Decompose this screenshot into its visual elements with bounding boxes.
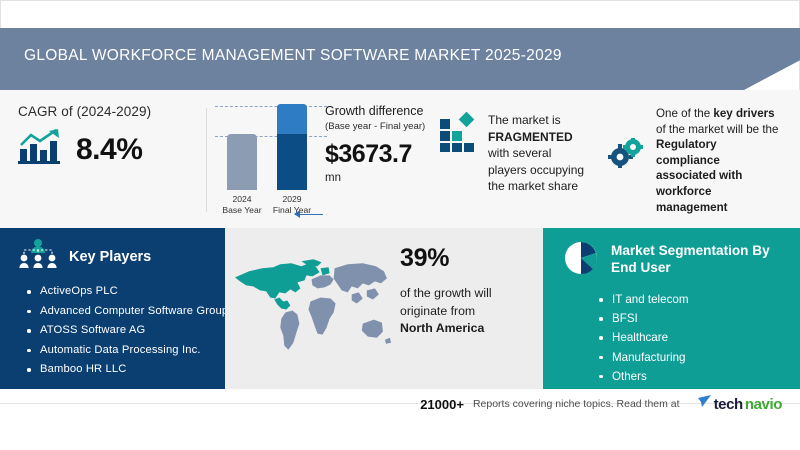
- list-item: Advanced Computer Software Group...: [26, 302, 238, 322]
- key-players-header: Key Players: [18, 238, 151, 275]
- divider-left: [206, 108, 207, 212]
- paper-plane-icon: [697, 394, 712, 414]
- drivers-line3: Regulatory: [656, 138, 717, 151]
- base-year-value: 2024: [214, 194, 270, 205]
- list-item: Manufacturing: [598, 348, 688, 367]
- growth-unit: mn: [325, 172, 455, 184]
- logo-text-navio: navio: [745, 396, 782, 413]
- bar-caption-final-year: 2029 Final Year: [264, 194, 320, 216]
- key-drivers-block: One of the key drivers of the market wil…: [608, 106, 784, 215]
- bottom-panels-row: Key Players ActiveOps PLC Advanced Compu…: [0, 228, 800, 389]
- fragmented-line5: the market share: [488, 179, 578, 193]
- fragmented-text: The market is FRAGMENTED with several pl…: [488, 112, 600, 195]
- drivers-line6: workforce: [656, 185, 711, 198]
- region-description: of the growth will originate from North …: [400, 285, 540, 338]
- bar-caption-base-year: 2024 Base Year: [214, 194, 270, 216]
- fragmented-block: The market is FRAGMENTED with several pl…: [440, 112, 600, 195]
- base-year-label: Base Year: [214, 205, 270, 216]
- drivers-line4: compliance: [656, 154, 720, 167]
- region-percent: 39%: [400, 244, 540, 273]
- fragmented-line3: with several: [488, 146, 551, 160]
- key-drivers-text: One of the key drivers of the market wil…: [656, 106, 784, 215]
- segmentation-panel: Market Segmentation By End User IT and t…: [543, 228, 800, 389]
- region-name: North America: [400, 321, 484, 335]
- logo-text-tech: tech: [714, 396, 743, 413]
- segmentation-title: Market Segmentation By End User: [611, 240, 781, 276]
- list-item: Others: [598, 367, 688, 386]
- growth-subtitle: (Base year - Final year): [325, 120, 455, 133]
- growth-difference-block: Growth difference (Base year - Final yea…: [325, 104, 455, 184]
- page-title: GLOBAL WORKFORCE MANAGEMENT SOFTWARE MAR…: [24, 47, 562, 65]
- drivers-line2: of the market will be the: [656, 123, 778, 136]
- growth-value: $3673.7: [325, 140, 455, 169]
- list-item: ATOSS Software AG: [26, 321, 238, 341]
- list-item: Bamboo HR LLC: [26, 360, 238, 380]
- bar-final-year: [277, 104, 307, 190]
- technavio-logo[interactable]: technavio: [697, 394, 782, 414]
- bar-base-year: [227, 134, 257, 190]
- footer: 21000+ Reports covering niche topics. Re…: [0, 389, 800, 450]
- segmentation-header: Market Segmentation By End User: [563, 240, 781, 281]
- squares-fragment-icon: [440, 112, 476, 195]
- region-desc-line1: of the growth will: [400, 286, 492, 300]
- gears-icon: [608, 106, 646, 215]
- key-players-list: ActiveOps PLC Advanced Computer Software…: [26, 282, 238, 380]
- fragmented-line4: players occupying: [488, 163, 584, 177]
- region-desc-line2: originate from: [400, 304, 475, 318]
- list-item: BFSI: [598, 309, 688, 328]
- growth-bar-chart: 2024 Base Year 2029 Final Year: [215, 106, 325, 216]
- list-item: IT and telecom: [598, 290, 688, 309]
- report-count: 21000+: [420, 397, 464, 412]
- top-stats-row: CAGR of (2024-2029) 8.4%: [0, 90, 800, 228]
- segmentation-list: IT and telecom BFSI Healthcare Manufactu…: [598, 290, 688, 386]
- list-item: ActiveOps PLC: [26, 282, 238, 302]
- callout-arrow-icon: [294, 210, 300, 218]
- bar-chart-growth-icon: [18, 129, 64, 170]
- drivers-line1-bold: key drivers: [713, 107, 774, 120]
- gridline-final-year: [215, 106, 327, 107]
- org-chart-people-icon: [18, 238, 58, 275]
- bar-growth-segment: [277, 104, 307, 134]
- fragmented-line1: The market is: [488, 113, 561, 127]
- fragmented-line2: FRAGMENTED: [488, 130, 573, 144]
- pie-chart-icon: [563, 240, 599, 281]
- final-year-value: 2029: [264, 194, 320, 205]
- region-growth-text: 39% of the growth will originate from No…: [400, 244, 540, 338]
- region-growth-block: 39% of the growth will originate from No…: [225, 228, 543, 389]
- cagr-block: CAGR of (2024-2029) 8.4%: [18, 104, 208, 170]
- drivers-line1: One of the: [656, 107, 713, 120]
- header-bar: GLOBAL WORKFORCE MANAGEMENT SOFTWARE MAR…: [0, 28, 800, 90]
- infographic-page: GLOBAL WORKFORCE MANAGEMENT SOFTWARE MAR…: [0, 0, 800, 450]
- drivers-line7: management: [656, 201, 728, 214]
- world-map-icon: [231, 246, 397, 371]
- drivers-line5: associated with: [656, 169, 742, 182]
- key-players-panel: Key Players ActiveOps PLC Advanced Compu…: [0, 228, 225, 389]
- list-item: Automatic Data Processing Inc.: [26, 341, 238, 361]
- key-players-title: Key Players: [69, 249, 151, 265]
- cagr-value: 8.4%: [76, 133, 142, 167]
- footer-tagline: Reports covering niche topics. Read them…: [473, 398, 680, 410]
- list-item: Healthcare: [598, 328, 688, 347]
- growth-title: Growth difference: [325, 104, 455, 119]
- cagr-label: CAGR of (2024-2029): [18, 104, 208, 119]
